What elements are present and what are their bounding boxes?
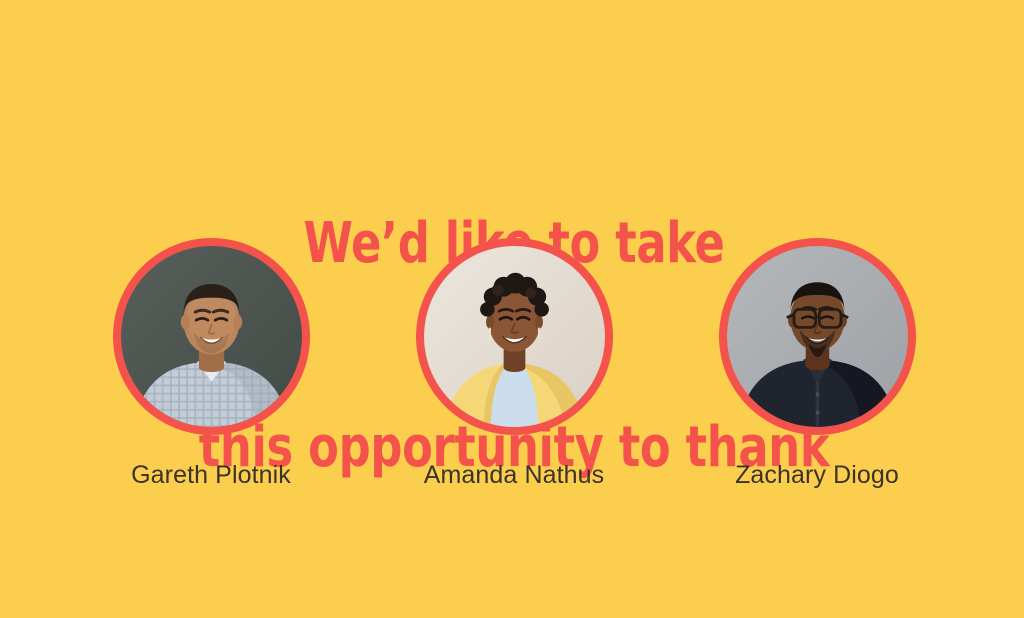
team-member-name: Amanda Nathus — [424, 461, 605, 490]
avatar-photo-gareth-plotnik — [121, 246, 302, 427]
thank-you-slide: We’d like to take this opportunity to th… — [0, 0, 1024, 576]
avatar-photo-zachary-diogo — [727, 246, 908, 427]
team-member-name: Zachary Diogo — [735, 461, 899, 490]
team-member-list: Gareth Plotnik — [112, 238, 916, 490]
avatar — [416, 238, 613, 435]
team-member: Amanda Nathus — [415, 238, 613, 490]
avatar-photo-amanda-nathus — [424, 246, 605, 427]
team-member: Gareth Plotnik — [112, 238, 310, 490]
team-member: Zachary Diogo — [718, 238, 916, 490]
team-member-name: Gareth Plotnik — [131, 461, 291, 490]
avatar — [719, 238, 916, 435]
avatar — [113, 238, 310, 435]
